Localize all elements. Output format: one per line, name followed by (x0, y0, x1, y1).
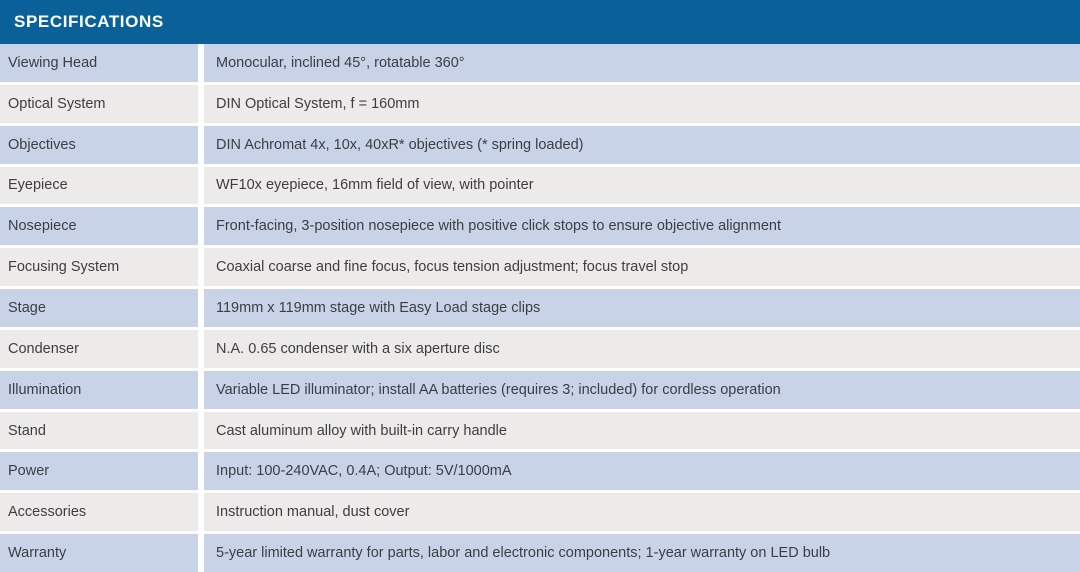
table-row: EyepieceWF10x eyepiece, 16mm field of vi… (0, 167, 1080, 205)
spec-label: Illumination (0, 371, 198, 409)
spec-value: N.A. 0.65 condenser with a six aperture … (204, 330, 1080, 368)
spec-label: Nosepiece (0, 207, 198, 245)
spec-value: Instruction manual, dust cover (204, 493, 1080, 531)
spec-value: Variable LED illuminator; install AA bat… (204, 371, 1080, 409)
table-row: CondenserN.A. 0.65 condenser with a six … (0, 330, 1080, 368)
page-title: SPECIFICATIONS (14, 12, 164, 32)
spec-value: Coaxial coarse and fine focus, focus ten… (204, 248, 1080, 286)
table-row: StandCast aluminum alloy with built-in c… (0, 412, 1080, 450)
spec-label: Eyepiece (0, 167, 198, 205)
spec-value: Front-facing, 3-position nosepiece with … (204, 207, 1080, 245)
spec-value: WF10x eyepiece, 16mm field of view, with… (204, 167, 1080, 205)
spec-value: 119mm x 119mm stage with Easy Load stage… (204, 289, 1080, 327)
spec-label: Stand (0, 412, 198, 450)
spec-label: Viewing Head (0, 44, 198, 82)
table-row: Focusing SystemCoaxial coarse and fine f… (0, 248, 1080, 286)
spec-label: Power (0, 452, 198, 490)
spec-value: Input: 100-240VAC, 0.4A; Output: 5V/1000… (204, 452, 1080, 490)
table-row: NosepieceFront-facing, 3-position nosepi… (0, 207, 1080, 245)
spec-value: DIN Achromat 4x, 10x, 40xR* objectives (… (204, 126, 1080, 164)
spec-value: Monocular, inclined 45°, rotatable 360° (204, 44, 1080, 82)
table-row: Warranty5-year limited warranty for part… (0, 534, 1080, 572)
table-row: PowerInput: 100-240VAC, 0.4A; Output: 5V… (0, 452, 1080, 490)
spec-label: Accessories (0, 493, 198, 531)
table-row: AccessoriesInstruction manual, dust cove… (0, 493, 1080, 531)
spec-label: Stage (0, 289, 198, 327)
table-row: IlluminationVariable LED illuminator; in… (0, 371, 1080, 409)
spec-value: DIN Optical System, f = 160mm (204, 85, 1080, 123)
spec-label: Objectives (0, 126, 198, 164)
table-row: Optical SystemDIN Optical System, f = 16… (0, 85, 1080, 123)
table-row: ObjectivesDIN Achromat 4x, 10x, 40xR* ob… (0, 126, 1080, 164)
specifications-panel: SPECIFICATIONS Viewing HeadMonocular, in… (0, 0, 1080, 572)
specifications-table: Viewing HeadMonocular, inclined 45°, rot… (0, 44, 1080, 572)
specifications-header: SPECIFICATIONS (0, 0, 1080, 44)
spec-label: Focusing System (0, 248, 198, 286)
spec-label: Warranty (0, 534, 198, 572)
table-row: Stage119mm x 119mm stage with Easy Load … (0, 289, 1080, 327)
spec-label: Condenser (0, 330, 198, 368)
spec-label: Optical System (0, 85, 198, 123)
spec-value: Cast aluminum alloy with built-in carry … (204, 412, 1080, 450)
spec-value: 5-year limited warranty for parts, labor… (204, 534, 1080, 572)
table-row: Viewing HeadMonocular, inclined 45°, rot… (0, 44, 1080, 82)
